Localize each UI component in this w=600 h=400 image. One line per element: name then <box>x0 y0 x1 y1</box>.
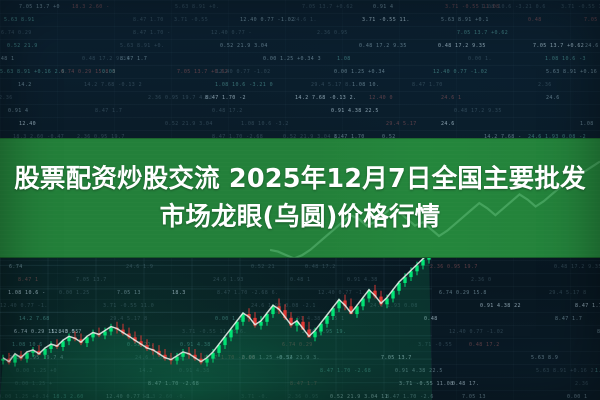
quote-text: 0.91 4 <box>8 108 28 114</box>
quote-text: 7.05 13.7 +0 <box>19 4 60 10</box>
quote-text: 5.63 8.9 <box>531 355 558 361</box>
quote-text: 0.48 17. <box>452 381 479 387</box>
quote-text: 2.36 <box>538 82 552 88</box>
quote-text: 1.08 <box>337 56 351 62</box>
quote-text: 14.2 7.68 -0.13 2. <box>295 95 356 101</box>
quote-text: 7.05 13 <box>462 394 486 400</box>
quote-text: 1.08 10.6 -3.2 <box>241 121 289 127</box>
quote-text: 8.47 1.7 <box>555 316 582 322</box>
quote-text: 0.48 17.2 9.35 <box>438 43 486 49</box>
quote-text: 12.40 0.77 -1.02 <box>449 329 504 335</box>
page-title-line-2: 市场龙眼(乌圆)价格行情 <box>13 198 587 236</box>
quote-text: 1.08 10. <box>352 82 379 88</box>
quote-text: 0.48 17.2 <box>212 108 243 114</box>
quote-text: 14.2 7.68 -0.13 2 <box>84 82 142 88</box>
quote-text: 29.4 5.17 8. <box>311 82 352 88</box>
quote-text: 0.91 4.38 22 <box>480 303 521 309</box>
quote-text: 5.63 8.91 +0. <box>120 43 164 49</box>
quote-text: 6.74 0.29 <box>1 30 32 36</box>
quote-text: 12.40 0.77 -1.02 <box>240 17 295 23</box>
quote-text: 24.6 <box>441 121 455 127</box>
quote-text: 5.63 8.91 +0.16 2. <box>546 69 600 75</box>
quote-text: 0.48 17.2 <box>469 342 500 348</box>
quote-text: 2.36 0.95 19.7 4.80 <box>148 95 213 101</box>
quote-text: 0.48 1 <box>0 56 14 62</box>
quote-text: 0.91 4 <box>373 4 393 10</box>
quote-text: 29.4 5.17 <box>386 121 417 127</box>
quote-text: 2.36 <box>0 95 13 101</box>
quote-text: 0.48 17.2 9.35 <box>454 108 502 114</box>
quote-text: 0.52 21.9 3.04 <box>165 121 213 127</box>
quote-text: 12.40 <box>19 121 36 127</box>
quote-text: 8.47 1.70 <box>133 17 164 23</box>
quote-text: 0.48 17.2 9.35 <box>554 264 600 270</box>
promo-banner-image: 7.05 13.7 +018.3 2.60 -5.63 8.91 +0.7.05… <box>0 0 600 400</box>
quote-text: 2.36 0.95 19.7 <box>430 264 478 270</box>
quote-text: 12.40 0.77 -1.02 <box>216 69 271 75</box>
quote-text: 0.00 1.25 +0.34 3 <box>263 56 321 62</box>
quote-text: 5.63 8.91 +0.1 <box>441 17 489 23</box>
quote-text: 8.47 1.7 <box>95 108 122 114</box>
quote-text: 8.47 1.70 -2. <box>575 303 600 309</box>
quote-text: 7.05 13.7 +0.62 <box>533 43 584 49</box>
quote-text: 3.71 -0.55 <box>174 17 208 23</box>
quote-text: 12.40 0 <box>369 95 393 101</box>
page-title-line-1: 股票配资炒股交流 2025年12月7日全国主要批发 <box>13 160 587 198</box>
quote-text: 8.47 1.70 <box>412 82 443 88</box>
quote-text: 24.6 1 <box>441 95 461 101</box>
quote-text: 0.00 <box>102 69 116 75</box>
quote-text: 5.63 8.91 +0. <box>175 4 219 10</box>
quote-text: 0.48 <box>528 17 542 23</box>
quote-text: 24.6 <box>546 95 560 101</box>
quote-text: 7.05 13. <box>584 17 600 23</box>
quote-text: 29.4 5.17 8 <box>549 290 587 296</box>
quote-text: 5.63 8.91 <box>4 17 35 23</box>
quote-text: 0.52 21.9 <box>7 43 38 49</box>
quote-text: 5.63 8.91 +0.16 2. <box>536 368 597 374</box>
quote-text: 1.08 10.6 -3.21 0 <box>215 82 273 88</box>
quote-text: 2.36 0.95 <box>317 30 348 36</box>
quote-text: 1.08 10.6 -3 <box>545 56 586 62</box>
quote-text: 0.48 17.2 9.35 <box>359 43 407 49</box>
quote-text: 12.40 0.77 -1.02 <box>433 69 488 75</box>
quote-text: 8.47 1.7 <box>120 56 147 62</box>
quote-text: 1.08 <box>580 121 594 127</box>
quote-text: 7.05 13.7 +0.62 <box>457 30 508 36</box>
quote-text: 5.63 8.91 +0.16 2.0 <box>0 69 65 75</box>
headline-banner: 股票配资炒股交流 2025年12月7日全国主要批发 市场龙眼(乌圆)价格行情 <box>0 138 600 258</box>
page-title: 股票配资炒股交流 2025年12月7日全国主要批发 市场龙眼(乌圆)价格行情 <box>13 160 587 236</box>
quote-text: 7.05 13.7 +0.62 <box>302 4 353 10</box>
candlestick-chart <box>0 236 432 400</box>
quote-text: 14.2 <box>18 82 32 88</box>
quote-text: 0.00 1. <box>468 56 492 62</box>
quote-text: 8.47 1.70 -2 <box>205 95 246 101</box>
quote-text: 24.6 1. <box>293 17 317 23</box>
quote-text: 24.6 1.93 0.08 -2.1 <box>585 43 600 49</box>
quote-text: 18.3 2.60 - <box>72 4 110 10</box>
candlestick-chart-svg <box>0 236 432 400</box>
quote-text: 3.71 -0.55 11.08 <box>561 4 600 10</box>
quote-text: 0.52 21.9 3.04 <box>220 43 268 49</box>
quote-text: 3.71 -0.55 11. <box>362 17 410 23</box>
quote-text: 1.08 10.6 -3.21 0. <box>595 368 600 374</box>
quote-text: 8.47 1.70 - <box>133 30 171 36</box>
quote-text: 1.08 10.6 -3.21 0.6 <box>481 4 546 10</box>
quote-text: 6.74 0.29 15.8 <box>439 290 487 296</box>
quote-text: 0.00 1 <box>567 394 587 400</box>
quote-text: 2.36 0 <box>471 277 491 283</box>
quote-text: 12.40 0.77 - <box>211 30 252 36</box>
quote-text: 0.00 1.25 +0.34 <box>334 69 385 75</box>
quote-text: 2.36 <box>575 381 589 387</box>
quote-text: 0.91 4.38 22.5 <box>331 108 379 114</box>
